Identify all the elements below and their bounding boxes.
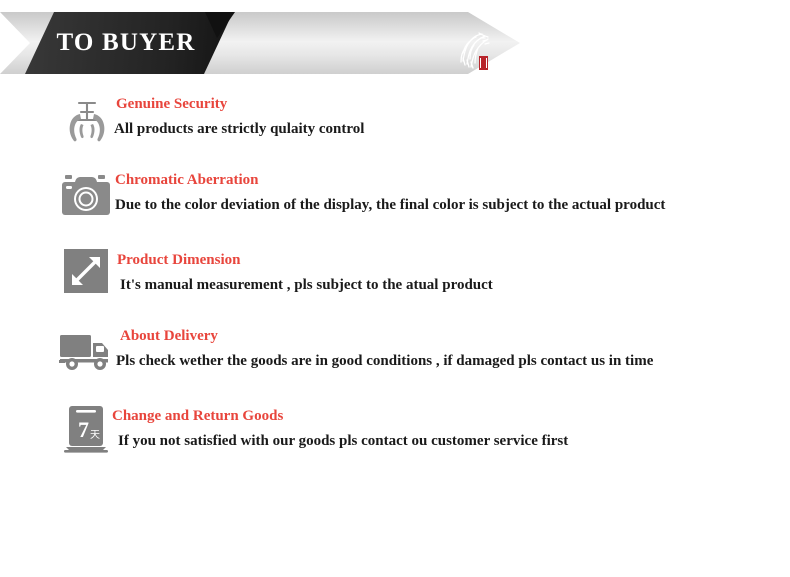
svg-text:天: 天 [90, 430, 100, 441]
list-item: Chromatic Aberration Due to the color de… [0, 170, 790, 248]
hands-holding-zheng-character-icon [62, 96, 112, 146]
delivery-truck-icon [58, 329, 112, 373]
row-title: Genuine Security [116, 94, 786, 114]
row-description: It's manual measurement , pls subject to… [120, 274, 786, 296]
row-text-block: Product Dimension It's manual measuremen… [117, 250, 786, 296]
list-item: Product Dimension It's manual measuremen… [0, 248, 790, 326]
list-item: 7 天 Change and Return Goods If you not s… [0, 404, 790, 482]
horse-head-logo-icon [452, 28, 498, 74]
row-title: Product Dimension [117, 250, 786, 270]
seven-day-return-calendar-icon: 7 天 [64, 404, 108, 454]
svg-text:7: 7 [78, 417, 89, 442]
diagonal-double-arrow-icon [64, 249, 108, 293]
row-text-block: About Delivery Pls check wether the good… [120, 326, 786, 372]
row-text-block: Change and Return Goods If you not satis… [112, 406, 786, 452]
buyer-notice-list: Genuine Security All products are strict… [0, 92, 790, 482]
row-description: All products are strictly qulaity contro… [114, 118, 786, 140]
row-title: About Delivery [120, 326, 786, 346]
camera-icon [60, 172, 112, 220]
row-text-block: Chromatic Aberration Due to the color de… [115, 170, 786, 216]
row-description: Pls check wether the goods are in good c… [116, 350, 786, 372]
list-item: Genuine Security All products are strict… [0, 92, 790, 170]
list-item: About Delivery Pls check wether the good… [0, 326, 790, 404]
row-title: Chromatic Aberration [115, 170, 786, 190]
red-seal-icon [479, 56, 488, 70]
row-description: Due to the color deviation of the displa… [115, 194, 786, 216]
row-description: If you not satisfied with our goods pls … [118, 430, 786, 452]
page-header-banner: TO BUYER [0, 12, 520, 74]
page-title: TO BUYER [36, 12, 216, 74]
row-title: Change and Return Goods [112, 406, 786, 426]
row-text-block: Genuine Security All products are strict… [116, 94, 786, 140]
